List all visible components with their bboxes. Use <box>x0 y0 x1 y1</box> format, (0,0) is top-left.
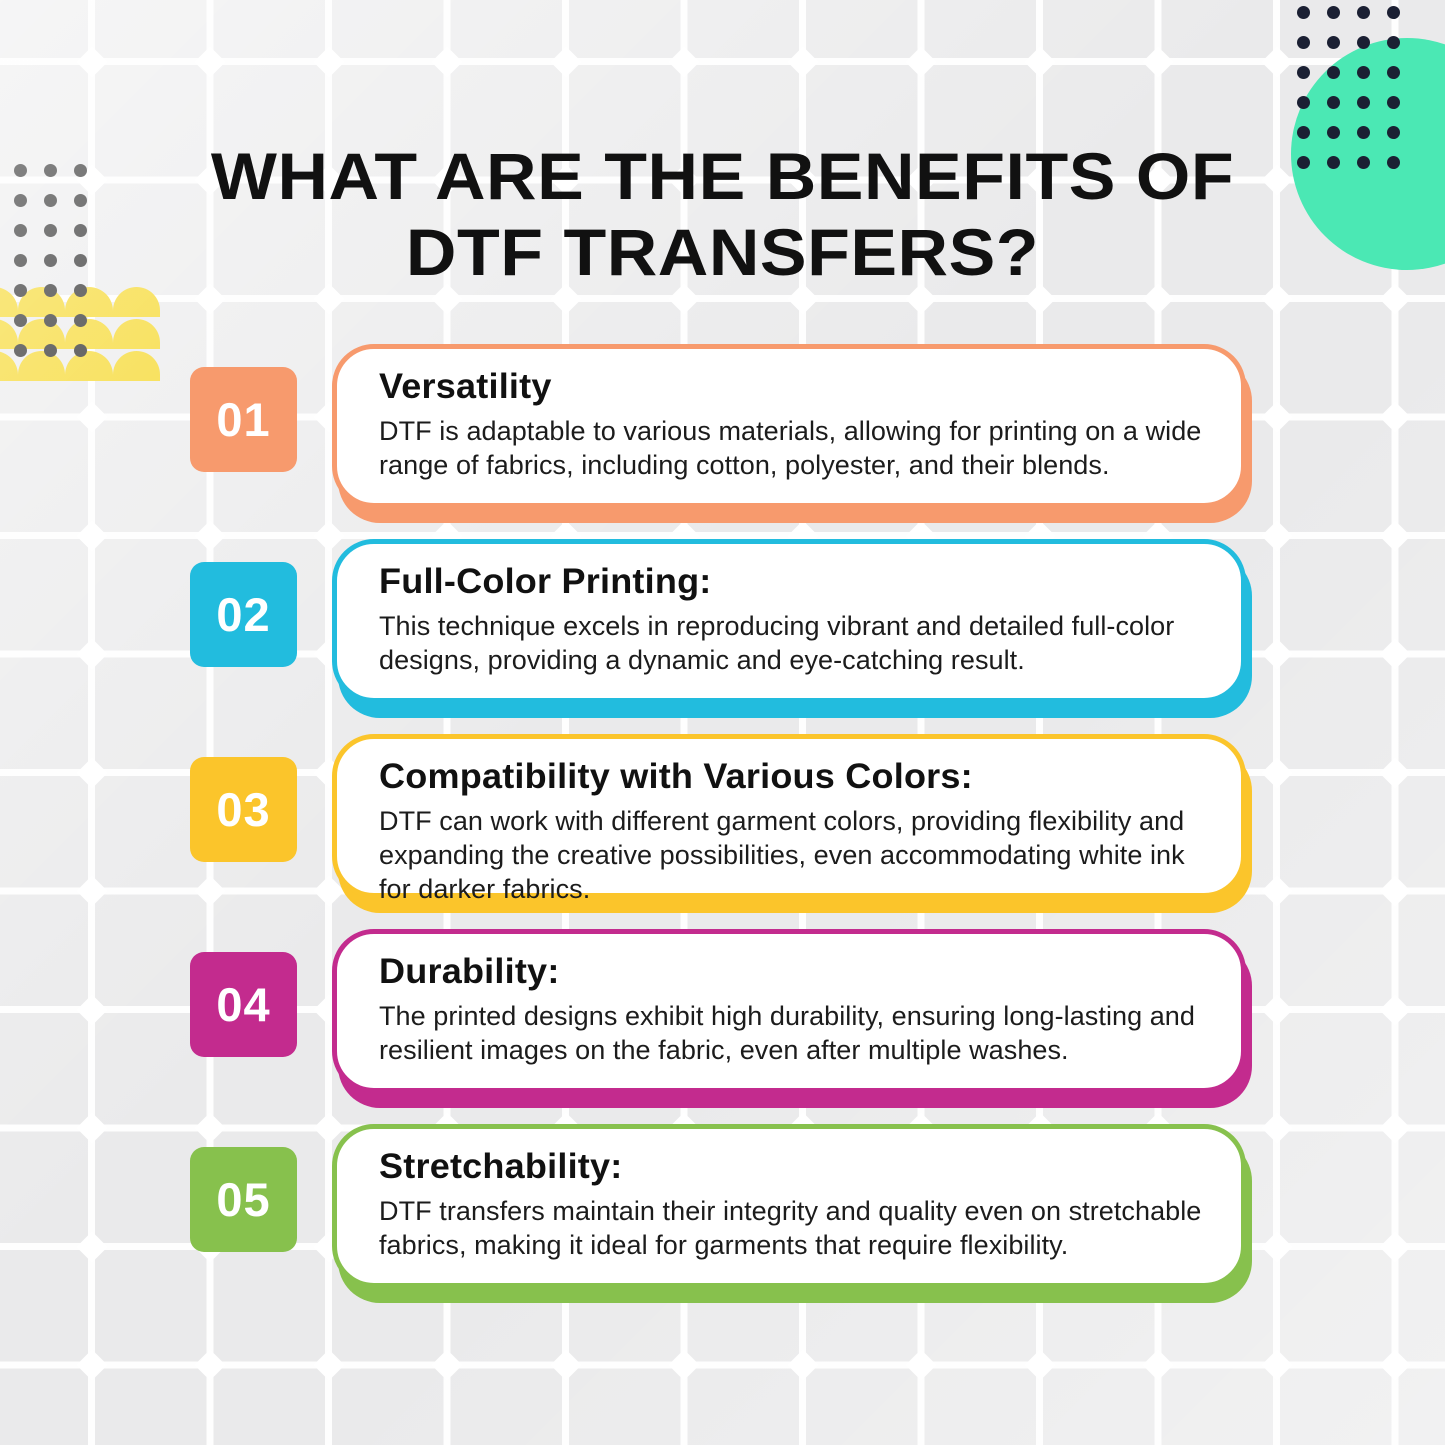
decorative-dot <box>1357 126 1370 139</box>
decorative-dot <box>74 224 87 237</box>
decorative-dot <box>14 224 27 237</box>
benefit-number-badge: 05 <box>190 1147 297 1252</box>
decorative-dot <box>1357 36 1370 49</box>
decorative-dot <box>1297 156 1310 169</box>
decorative-dot <box>1357 6 1370 19</box>
benefit-number-badge: 04 <box>190 952 297 1057</box>
benefit-description: The printed designs exhibit high durabil… <box>379 999 1222 1067</box>
decorative-dot <box>1327 156 1340 169</box>
benefit-card: Stretchability:DTF transfers maintain th… <box>332 1124 1246 1288</box>
dot-pattern-left <box>14 164 164 364</box>
benefit-title: Versatility <box>379 365 1230 409</box>
benefits-list: 01VersatilityDTF is adaptable to various… <box>0 339 1445 1319</box>
decorative-dot <box>44 254 57 267</box>
decorative-dot <box>1297 36 1310 49</box>
benefit-card: VersatilityDTF is adaptable to various m… <box>332 344 1246 508</box>
decorative-dot <box>44 164 57 177</box>
benefit-number-badge: 01 <box>190 367 297 472</box>
benefit-number-badge: 03 <box>190 757 297 862</box>
benefit-item: 04Durability:The printed designs exhibit… <box>0 924 1445 1119</box>
benefit-title: Stretchability: <box>379 1145 1230 1189</box>
decorative-dot <box>14 164 27 177</box>
decorative-dot <box>1387 126 1400 139</box>
decorative-dot <box>44 194 57 207</box>
decorative-dot <box>74 164 87 177</box>
dot-pattern-right <box>1297 6 1437 181</box>
decorative-dot <box>74 194 87 207</box>
decorative-dot <box>1387 36 1400 49</box>
decorative-dot <box>1297 96 1310 109</box>
decorative-dot <box>1357 66 1370 79</box>
decorative-dot <box>74 254 87 267</box>
benefit-description: DTF transfers maintain their integrity a… <box>379 1194 1222 1262</box>
decorative-dot <box>1387 156 1400 169</box>
benefit-title: Durability: <box>379 950 1230 994</box>
decorative-dot <box>1327 6 1340 19</box>
decorative-dot <box>1327 96 1340 109</box>
benefit-card: Compatibility with Various Colors:DTF ca… <box>332 734 1246 898</box>
decorative-dot <box>14 254 27 267</box>
decorative-dot <box>1387 96 1400 109</box>
benefit-card: Full-Color Printing:This technique excel… <box>332 539 1246 703</box>
decorative-dot <box>1297 6 1310 19</box>
benefit-item: 03Compatibility with Various Colors:DTF … <box>0 729 1445 924</box>
decorative-dot <box>1327 66 1340 79</box>
decorative-dot <box>1327 126 1340 139</box>
benefit-card: Durability:The printed designs exhibit h… <box>332 929 1246 1093</box>
decorative-dot <box>14 194 27 207</box>
benefit-description: DTF is adaptable to various materials, a… <box>379 414 1222 482</box>
decorative-dot <box>1327 36 1340 49</box>
benefit-item: 01VersatilityDTF is adaptable to various… <box>0 339 1445 534</box>
decorative-dot <box>1357 96 1370 109</box>
benefit-description: DTF can work with different garment colo… <box>379 804 1222 906</box>
benefit-title: Full-Color Printing: <box>379 560 1230 604</box>
decorative-dot <box>74 314 87 327</box>
decorative-dot <box>14 314 27 327</box>
decorative-dot <box>44 224 57 237</box>
benefit-item: 05Stretchability:DTF transfers maintain … <box>0 1119 1445 1319</box>
page-title: WHAT ARE THE BENEFITS OF DTF TRANSFERS? <box>147 138 1297 290</box>
benefit-description: This technique excels in reproducing vib… <box>379 609 1222 677</box>
decorative-dot <box>1297 66 1310 79</box>
decorative-dot <box>1357 156 1370 169</box>
decorative-dot <box>1297 126 1310 139</box>
decorative-dot <box>1387 6 1400 19</box>
decorative-dot <box>14 284 27 297</box>
infographic-poster: WHAT ARE THE BENEFITS OF DTF TRANSFERS? … <box>0 0 1445 1445</box>
decorative-dot <box>44 284 57 297</box>
decorative-dot <box>44 314 57 327</box>
decorative-dot <box>1387 66 1400 79</box>
benefit-title: Compatibility with Various Colors: <box>379 755 1230 799</box>
decorative-dot <box>74 284 87 297</box>
benefit-item: 02Full-Color Printing:This technique exc… <box>0 534 1445 729</box>
benefit-number-badge: 02 <box>190 562 297 667</box>
